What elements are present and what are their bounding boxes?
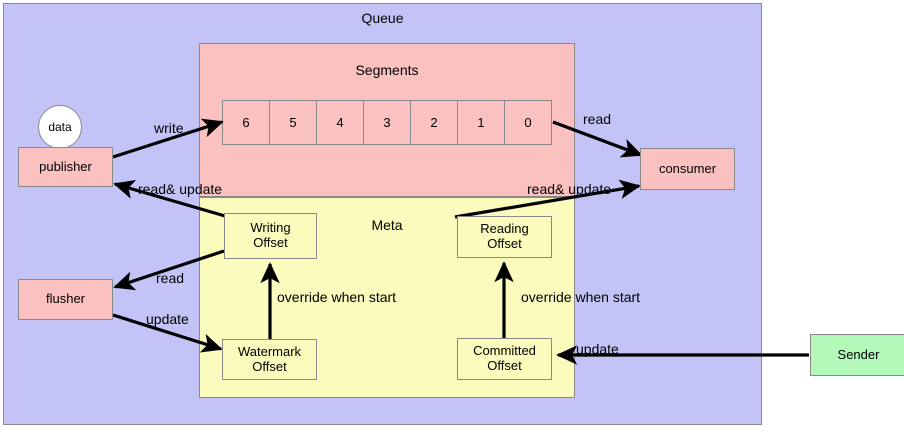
- segment-cell-6[interactable]: 6: [222, 100, 270, 145]
- node-publisher[interactable]: publisher: [18, 147, 113, 187]
- edge-label-update-watermark: update: [146, 311, 189, 327]
- data-node: data: [38, 105, 82, 149]
- committed-offset-label-line2: Offset: [473, 359, 536, 374]
- segment-cell-5[interactable]: 5: [269, 100, 317, 145]
- segment-cell-2[interactable]: 2: [410, 100, 458, 145]
- node-watermark-offset[interactable]: Watermark Offset: [222, 339, 317, 380]
- reading-offset-label-line2: Offset: [480, 237, 528, 252]
- segment-cell-0[interactable]: 0: [504, 100, 552, 145]
- committed-offset-label-line1: Committed: [473, 344, 536, 359]
- publisher-label: publisher: [39, 160, 92, 175]
- edge-label-read-consumer: read: [583, 111, 611, 127]
- segment-cell-1[interactable]: 1: [457, 100, 505, 145]
- edge-label-override-writing: override when start: [277, 289, 396, 305]
- watermark-offset-label-line2: Offset: [238, 360, 301, 375]
- edge-label-read-update-publisher: read& update: [138, 181, 222, 197]
- segments-title: Segments: [355, 62, 418, 78]
- node-writing-offset[interactable]: Writing Offset: [224, 213, 317, 259]
- queue-title: Queue: [361, 10, 403, 26]
- segments-cell-row: 6 5 4 3 2 1 0: [222, 100, 552, 145]
- node-reading-offset[interactable]: Reading Offset: [457, 216, 552, 258]
- segment-cell-3[interactable]: 3: [363, 100, 411, 145]
- node-consumer[interactable]: consumer: [640, 148, 735, 190]
- meta-title: Meta: [371, 217, 402, 233]
- edge-label-read-update-consumer: read& update: [527, 181, 611, 197]
- node-sender[interactable]: Sender: [810, 334, 904, 376]
- flusher-label: flusher: [46, 292, 85, 307]
- writing-offset-label-line2: Offset: [250, 236, 290, 251]
- diagram-canvas: Queue Segments Meta 6 5 4 3 2 1 0 data: [0, 0, 904, 432]
- node-flusher[interactable]: flusher: [18, 279, 113, 320]
- edge-label-write: write: [154, 120, 184, 136]
- node-committed-offset[interactable]: Committed Offset: [457, 338, 552, 380]
- edge-label-read-flusher: read: [156, 270, 184, 286]
- sender-label: Sender: [838, 348, 880, 363]
- edge-label-override-reading: override when start: [521, 289, 640, 305]
- segment-cell-4[interactable]: 4: [316, 100, 364, 145]
- consumer-label: consumer: [659, 162, 716, 177]
- watermark-offset-label-line1: Watermark: [238, 345, 301, 360]
- edge-label-update-committed: update: [576, 341, 619, 357]
- data-node-label: data: [48, 120, 71, 134]
- reading-offset-label-line1: Reading: [480, 222, 528, 237]
- writing-offset-label-line1: Writing: [250, 221, 290, 236]
